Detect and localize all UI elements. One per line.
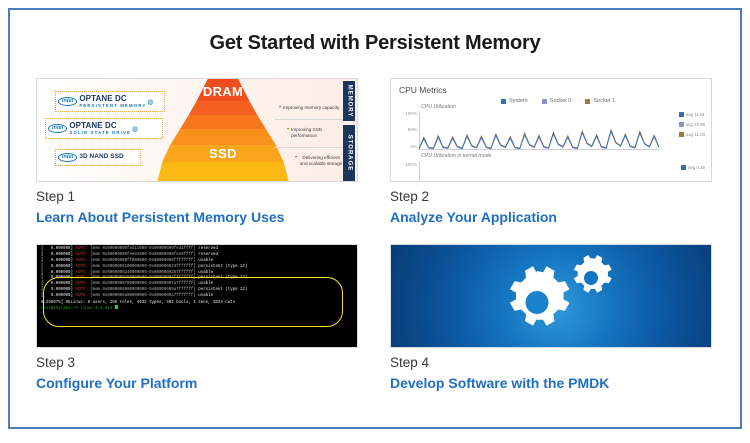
step-card-3: [ 0.000000] ACPI: [mem 0x00000000fed1c00… [36, 244, 366, 392]
small-gear-icon [574, 255, 612, 293]
steps-grid: intel OPTANE DC PERSISTENT MEMORY ◍ inte… [36, 78, 720, 393]
avg-socket-1: avg 11.03 [679, 132, 705, 137]
pyramid-label-ssd: SSD [157, 146, 289, 161]
pyramid-tier-6 [157, 162, 289, 182]
pyramid-infographic: intel OPTANE DC PERSISTENT MEMORY ◍ inte… [37, 79, 357, 181]
legend-swatch-icon [542, 99, 547, 104]
side-bar-memory-label: MEMORY [346, 85, 352, 118]
benefit-text: Delivering efficient and scalable storag… [299, 155, 343, 167]
avg-kernel-system: avg 0.48 [681, 165, 705, 170]
bullet-icon: • [287, 127, 289, 139]
terminal-line: [ 0.000000] ACPI: [mem 0x0000000a0000000… [41, 294, 353, 300]
chip-title: OPTANE DC [79, 95, 146, 103]
step-card-4: Step 4 Develop Software with the PMDK [390, 244, 720, 392]
product-chip-optane-pmem: intel OPTANE DC PERSISTENT MEMORY ◍ [55, 91, 165, 112]
legend-item-socket-0: Socket 0 [542, 98, 572, 104]
step-card-2: CPU Metrics System Socket 0 Socket 1 [390, 78, 720, 226]
benefit-item: • Delivering efficient and scalable stor… [295, 155, 343, 167]
bullet-icon: • [279, 105, 281, 111]
step-1-label: Step 1 [36, 189, 366, 206]
avg-label: avg 0.48 [688, 165, 705, 170]
avg-socket-0: avg 10.99 [679, 122, 705, 127]
pyramid-tier-2 [157, 101, 289, 115]
y-tick-100-kernel: 100% [395, 162, 417, 167]
product-chip-3d-nand: intel 3D NAND SSD [55, 149, 141, 166]
step-card-1: intel OPTANE DC PERSISTENT MEMORY ◍ inte… [36, 78, 366, 226]
y-axis-line-kernel [419, 162, 420, 180]
panel-2-caption: CPU Utilization in kernel mode [421, 153, 491, 159]
avg-swatch-icon [679, 122, 684, 127]
side-bar-memory: MEMORY [343, 81, 355, 121]
legend-label: Socket 1 [593, 98, 615, 104]
chip-title: OPTANE DC [69, 122, 131, 130]
product-chip-list: intel OPTANE DC PERSISTENT MEMORY ◍ inte… [41, 83, 167, 179]
page-title: Get Started with Persistent Memory [10, 32, 740, 55]
y-tick-0: 0% [395, 144, 417, 149]
y-tick-50: 50% [395, 127, 417, 132]
avg-swatch-icon [679, 132, 684, 137]
terminal-output: [ 0.000000] ACPI: [mem 0x00000000fed1c00… [41, 247, 353, 299]
chart-title: CPU Metrics [399, 85, 703, 95]
step-3-label: Step 3 [36, 355, 366, 372]
chip-title: 3D NAND SSD [79, 154, 123, 160]
benefit-text: Improving SSD performance [291, 127, 335, 139]
gears-graphic [391, 245, 711, 347]
step-2-label: Step 2 [390, 189, 720, 206]
legend-item-system: System [501, 98, 528, 104]
step-4-link[interactable]: Develop Software with the PMDK [390, 375, 720, 393]
terminal-prompt-line: root@skylake:~# linux-4.5.014 [41, 305, 353, 311]
step-4-image[interactable] [390, 244, 712, 348]
pyramid-label-dram: DRAM [157, 84, 289, 99]
chip-subtitle: PERSISTENT MEMORY [79, 104, 146, 108]
gears-illustration [391, 245, 712, 348]
side-bar-storage-label: STORAGE [346, 135, 352, 172]
y-tick-100: 100% [395, 111, 417, 116]
cpu-metrics-chart: CPU Metrics System Socket 0 Socket 1 [391, 79, 711, 181]
legend-label: Socket 0 [550, 98, 572, 104]
legend-item-socket-1: Socket 1 [585, 98, 615, 104]
side-bar-storage: STORAGE [343, 125, 355, 181]
pyramid-tier-4 [157, 129, 289, 145]
chip-subtitle: SOLID STATE DRIVE [69, 131, 131, 135]
chart-legend: System Socket 0 Socket 1 [501, 98, 615, 104]
page-frame: Get Started with Persistent Memory intel… [8, 8, 742, 429]
step-2-image[interactable]: CPU Metrics System Socket 0 Socket 1 [390, 78, 712, 182]
pyramid-tier-3 [157, 115, 289, 129]
terminal-memory-map: [ 0.000000] ACPI: [mem 0x00000000fed1c00… [37, 245, 357, 347]
benefits-list: • Improving memory capacity • Improving … [275, 79, 345, 182]
benefit-item: • Improving SSD performance [287, 127, 335, 139]
legend-swatch-icon [585, 99, 590, 104]
step-4-label: Step 4 [390, 355, 720, 372]
avg-label: avg 10.99 [686, 122, 705, 127]
legend-label: System [509, 98, 528, 104]
benefit-text: Improving memory capacity [283, 105, 339, 111]
intel-logo-icon: intel [48, 124, 67, 134]
avg-label: avg 11.03 [686, 132, 705, 137]
terminal-prompt-text: root@skylake:~# linux-4.5.014 [41, 307, 112, 311]
avg-system: avg 11.01 [679, 112, 705, 117]
large-gear-icon [510, 267, 570, 327]
optane-mark-icon: ◍ [132, 125, 137, 133]
step-2-link[interactable]: Analyze Your Application [390, 209, 720, 227]
benefit-item: • Improving memory capacity [279, 105, 345, 111]
cpu-utilization-plot [419, 109, 659, 151]
step-1-image[interactable]: intel OPTANE DC PERSISTENT MEMORY ◍ inte… [36, 78, 358, 182]
legend-swatch-icon [501, 99, 506, 104]
optane-mark-icon: ◍ [147, 98, 152, 106]
intel-logo-icon: intel [58, 153, 77, 163]
avg-swatch-icon [681, 165, 686, 170]
step-1-link[interactable]: Learn About Persistent Memory Uses [36, 209, 366, 227]
avg-swatch-icon [679, 112, 684, 117]
intel-logo-icon: intel [58, 97, 77, 107]
bullet-icon: • [295, 155, 297, 167]
memory-hierarchy-pyramid: DRAM SSD [157, 79, 289, 182]
step-3-image[interactable]: [ 0.000000] ACPI: [mem 0x00000000fed1c00… [36, 244, 358, 348]
avg-label: avg 11.01 [686, 112, 705, 117]
cursor-icon [115, 305, 118, 310]
step-3-link[interactable]: Configure Your Platform [36, 375, 366, 393]
product-chip-optane-ssd: intel OPTANE DC SOLID STATE DRIVE ◍ [45, 118, 163, 139]
